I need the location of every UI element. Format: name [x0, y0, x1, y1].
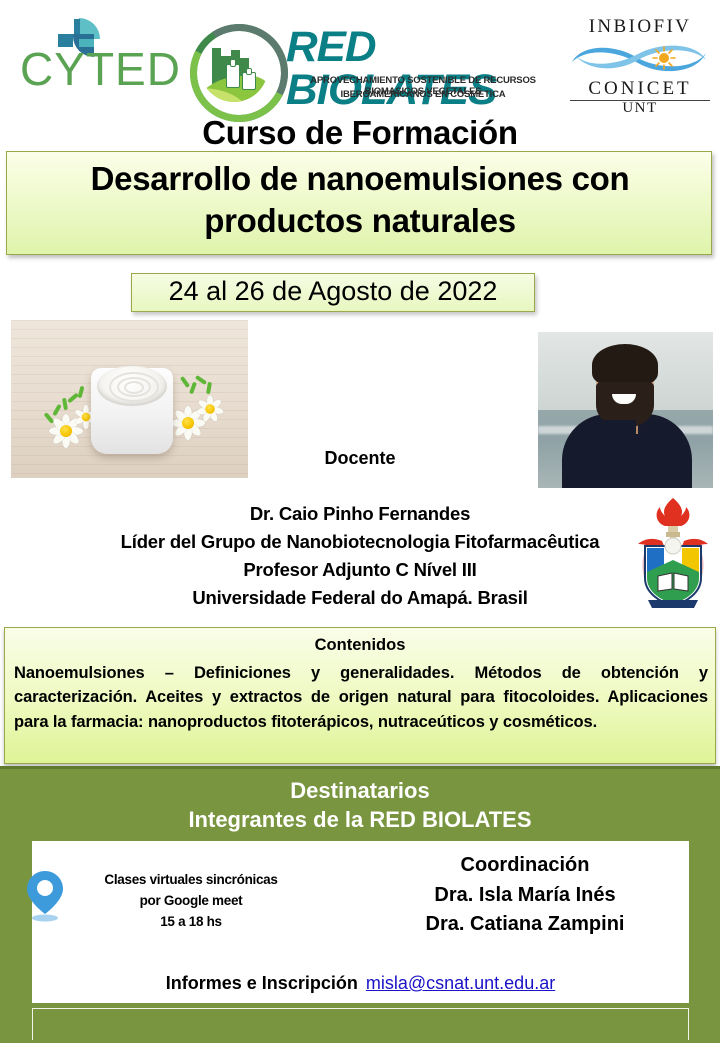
docente-name: Dr. Caio Pinho Fernandes: [0, 500, 720, 528]
destinatarios-title: Destinatarios: [0, 777, 720, 806]
conicet-logo: INBIOFIV: [566, 16, 714, 114]
cyted-wordmark: CYTED: [18, 46, 183, 92]
docente-details: Dr. Caio Pinho Fernandes Líder del Grupo…: [0, 500, 720, 612]
page-title: Desarrollo de nanoemulsiones con product…: [0, 158, 720, 242]
docente-position: Profesor Adjunto C Nível III: [0, 556, 720, 584]
informes-row: Informes e Inscripciónmisla@csnat.unt.ed…: [32, 973, 689, 994]
class-logistics-line-2: por Google meet: [66, 891, 316, 912]
unifap-coat-of-arms-icon: [632, 494, 714, 612]
contenidos-title: Contenidos: [4, 636, 716, 655]
cyted-logo: CYTED: [18, 16, 183, 108]
logo-bar: CYTED RED BIOLATES APROVECHAM: [0, 0, 720, 115]
course-dates: 24 al 26 de Agosto de 2022: [131, 277, 535, 307]
coordinacion-block: Coordinación Dra. Isla María Inés Dra. C…: [350, 851, 700, 940]
red-biolates-logo: RED BIOLATES APROVECHAMIENTO SOSTENIBLE …: [188, 18, 560, 114]
coordinacion-person-1: Dra. Isla María Inés: [350, 881, 700, 911]
destinatarios-subtitle: Integrantes de la RED BIOLATES: [0, 806, 720, 835]
course-kicker: Curso de Formación: [0, 115, 720, 151]
info-card-footer-strip: [32, 1008, 689, 1040]
coordinacion-person-2: Dra. Catiana Zampini: [350, 910, 700, 940]
informes-label: Informes e Inscripción: [166, 973, 358, 993]
docente-institution: Universidade Federal do Amapá. Brasil: [0, 584, 720, 612]
contenidos-body: Nanoemulsiones – Definiciones y generali…: [14, 661, 708, 734]
page-title-line-1: Desarrollo de nanoemulsiones con: [0, 158, 720, 200]
conicet-ribbon-sun-icon: [568, 40, 712, 76]
class-logistics: Clases virtuales sincrónicas por Google …: [66, 870, 316, 933]
red-biolates-subtitle-2: IBEROAMERICANOS EN COSMETICA: [286, 90, 560, 101]
coordinacion-title: Coordinación: [350, 851, 700, 881]
conicet-wordmark: CONICET: [566, 78, 714, 100]
class-logistics-line-3: 15 a 18 hs: [66, 912, 316, 933]
contact-email-link[interactable]: misla@csnat.unt.edu.ar: [366, 973, 555, 993]
inbiofiv-wordmark: INBIOFIV: [566, 16, 714, 38]
docente-role: Líder del Grupo de Nanobiotecnologia Fit…: [0, 528, 720, 556]
class-logistics-line-1: Clases virtuales sincrónicas: [66, 870, 316, 891]
page-title-line-2: productos naturales: [0, 200, 720, 242]
docente-label: Docente: [0, 448, 720, 469]
leaf-circle-factory-icon: [188, 22, 280, 114]
location-pin-icon: [24, 868, 66, 924]
